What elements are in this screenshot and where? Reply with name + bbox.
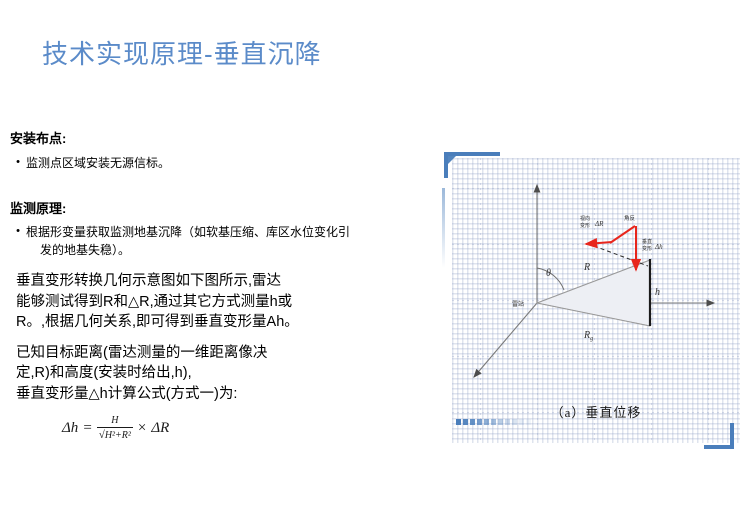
label-los-deformation-symbol: ΔR (594, 220, 604, 228)
section-heading-installation: 安装布点: (10, 130, 410, 148)
paragraph-geometry: 垂直变形转换几何示意图如下图所示,雷达 能够测试得到R和△R,通过其它方式测量h… (10, 271, 410, 333)
paragraph-line: 垂直变形量△h计算公式(方式一)为: (16, 384, 410, 405)
bullet-text-block: 根据形变量获取监测地基沉降（如软基压缩、库区水位变化引 发的地基失稳）。 (26, 223, 410, 259)
paragraph-line: R。,根据几何关系,即可得到垂直变形量Ah。 (16, 312, 410, 333)
paragraph-known-values: 已知目标距离(雷达测量的一维距离像决 定,R)和高度(安装时给出,h), 垂直变… (10, 343, 410, 405)
section-heading-principle: 监测原理: (10, 200, 410, 218)
label-los-deformation-cn-1: 视向 (580, 215, 590, 222)
formula-numerator: H (107, 415, 122, 428)
formula-times: × (138, 420, 146, 437)
list-item: • 监测点区域安装无源信标。 (10, 154, 410, 172)
list-item: • 根据形变量获取监测地基沉降（如软基压缩、库区水位变化引 发的地基失稳）。 (10, 223, 410, 259)
formula-rhs: ΔR (151, 420, 169, 437)
los-deformation-arrow (586, 242, 612, 244)
label-vertical-deformation-symbol: Δh (654, 243, 663, 251)
edge-accent-line (442, 188, 445, 268)
formula-denominator: √H²+R² (97, 427, 133, 442)
content-column: 安装布点: • 监测点区域安装无源信标。 监测原理: • 根据形变量获取监测地基… (10, 130, 410, 442)
label-ground-range: Rg (583, 330, 593, 342)
formula-lhs: Δh (62, 420, 78, 437)
bullet-text: 监测点区域安装无源信标。 (26, 154, 410, 172)
diagram-caption: （a）垂直位移 (452, 402, 740, 421)
formula-delta-h: Δh = H √H²+R² × ΔR (62, 415, 169, 442)
diagram-panel: 雷站 θ R Rg h 视向 变形 ΔR 角反 垂直 变形 Δh （a）垂直位移 (452, 158, 740, 443)
spacer (10, 174, 410, 200)
bullet-text-line-2: 发的地基失稳）。 (26, 241, 410, 259)
label-slant-range: R (583, 262, 590, 273)
displacement-dashed-line (594, 246, 648, 266)
spacer (10, 261, 410, 271)
label-radar-station: 雷站 (512, 300, 524, 308)
paragraph-line: 垂直变形转换几何示意图如下图所示,雷达 (16, 271, 410, 292)
vertical-displacement-figure: 雷站 θ R Rg h 视向 变形 ΔR 角反 垂直 变形 Δh (452, 158, 740, 443)
formula-container: Δh = H √H²+R² × ΔR (10, 415, 410, 442)
label-height: h (655, 287, 660, 298)
label-vertical-deformation-cn-2: 变形 (642, 245, 652, 252)
paragraph-line: 定,R)和高度(安装时给出,h), (16, 363, 410, 384)
spacer (10, 333, 410, 343)
paragraph-line: 能够测试得到R和△R,通过其它方式测量h或 (16, 292, 410, 313)
deformation-hypotenuse (610, 226, 635, 243)
geometry-triangle (537, 260, 650, 326)
label-theta: θ (546, 268, 551, 279)
page-title: 技术实现原理-垂直沉降 (42, 34, 322, 71)
formula-equals: = (83, 420, 91, 437)
paragraph-line: 已知目标距离(雷达测量的一维距离像决 (16, 343, 410, 364)
formula-radicand: H²+R² (105, 430, 131, 441)
label-vertical-deformation-cn-1: 垂直 (642, 238, 652, 245)
formula-fraction: H √H²+R² (97, 415, 133, 442)
bullet-dot-icon: • (10, 223, 26, 240)
bullet-dot-icon: • (10, 154, 26, 171)
label-los-deformation-cn-2: 变形 (580, 222, 590, 229)
axis-look-direction (474, 303, 537, 377)
label-corner-reflector: 角反 (624, 214, 636, 222)
bullet-text-line-1: 根据形变量获取监测地基沉降（如软基压缩、库区水位变化引 (26, 225, 350, 239)
